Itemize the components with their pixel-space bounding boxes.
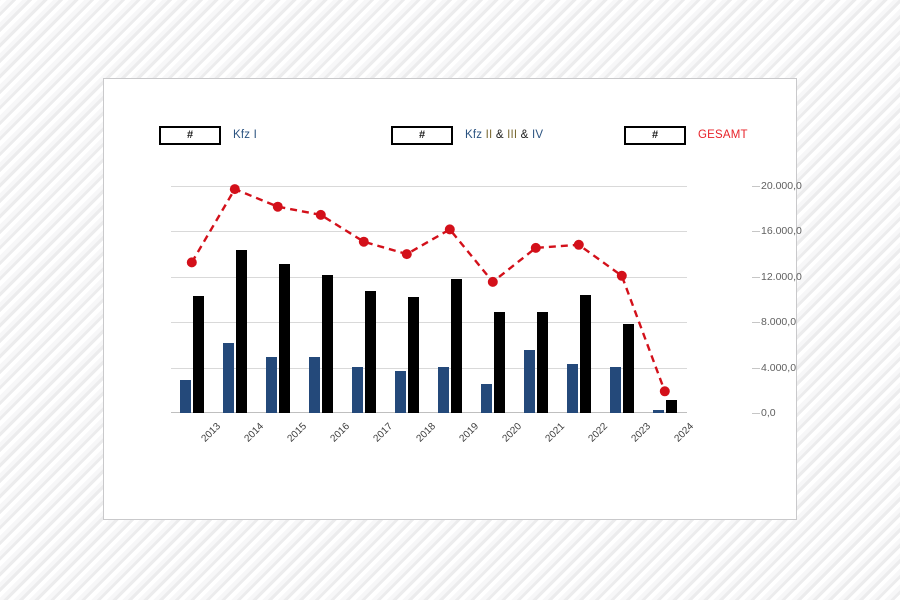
y-axis-label: 4.000,0 bbox=[761, 362, 796, 374]
legend-label-segment-2: & bbox=[492, 129, 507, 141]
x-axis-label: 2021 bbox=[544, 421, 568, 445]
gesamt-data-point[interactable]: 2013: 13270 bbox=[187, 257, 197, 267]
x-axis-label: 2024 bbox=[673, 421, 697, 445]
y-axis-label: 20.000,0 bbox=[761, 180, 802, 192]
x-axis-label: 2020 bbox=[501, 421, 525, 445]
y-axis-label: 8.000,0 bbox=[761, 316, 796, 328]
gesamt-data-point[interactable]: 2014: 19730 bbox=[230, 184, 240, 194]
legend-label-gesamt: GESAMT bbox=[698, 129, 748, 141]
y-axis-label: 12.000,0 bbox=[761, 271, 802, 283]
legend-swatch-kfz-i[interactable]: # bbox=[159, 126, 221, 145]
gesamt-data-point[interactable]: 2017: 15090 bbox=[359, 237, 369, 247]
gesamt-data-point[interactable]: 2023: 12090 bbox=[617, 271, 627, 281]
x-axis-label: 2013 bbox=[200, 421, 224, 445]
legend-label-kfz-i: Kfz I bbox=[233, 129, 257, 141]
x-axis-label: 2019 bbox=[458, 421, 482, 445]
legend-label-segment-0: Kfz bbox=[465, 129, 486, 141]
legend-item-kfz-i[interactable]: # Kfz I bbox=[159, 124, 257, 146]
y-axis-label: 16.000,0 bbox=[761, 225, 802, 237]
gesamt-line-series: 2013: 132702014: 197302015: 181802016: 1… bbox=[171, 186, 687, 413]
y-tick-mark bbox=[752, 186, 760, 187]
chart-legend: # Kfz I # Kfz II & III & IV # GESAMT bbox=[104, 79, 798, 139]
screenshot-root: # Kfz I # Kfz II & III & IV # GESAMT 0,0… bbox=[0, 0, 900, 600]
legend-label-kfz-ii-iii-iv: Kfz II & III & IV bbox=[465, 129, 543, 141]
x-axis-label: 2016 bbox=[329, 421, 353, 445]
gesamt-data-point[interactable]: 2016: 17450 bbox=[316, 210, 326, 220]
legend-label-segment-4: & bbox=[517, 129, 532, 141]
plot-area: 0,04.000,08.000,012.000,016.000,020.000,… bbox=[171, 186, 687, 413]
y-tick-mark bbox=[752, 368, 760, 369]
gesamt-data-point[interactable]: 2024: 1910 bbox=[660, 386, 670, 396]
gesamt-data-point[interactable]: 2018: 14000 bbox=[402, 249, 412, 259]
chart-panel: # Kfz I # Kfz II & III & IV # GESAMT 0,0… bbox=[103, 78, 797, 520]
gesamt-line-path bbox=[192, 189, 665, 391]
gesamt-data-point[interactable]: 2022: 14820 bbox=[574, 240, 584, 250]
x-axis-label: 2017 bbox=[372, 421, 396, 445]
legend-swatch-kfz-ii-iii-iv[interactable]: # bbox=[391, 126, 453, 145]
legend-label-segment-3: III bbox=[507, 129, 517, 141]
gesamt-data-point[interactable]: 2015: 18180 bbox=[273, 202, 283, 212]
gesamt-data-point[interactable]: 2020: 11550 bbox=[488, 277, 498, 287]
x-axis-label: 2023 bbox=[630, 421, 654, 445]
x-axis-label: 2018 bbox=[415, 421, 439, 445]
legend-item-kfz-ii-iii-iv[interactable]: # Kfz II & III & IV bbox=[391, 124, 543, 146]
y-tick-mark bbox=[752, 231, 760, 232]
legend-item-gesamt[interactable]: # GESAMT bbox=[624, 124, 748, 146]
x-axis-label: 2014 bbox=[243, 421, 267, 445]
y-axis-label: 0,0 bbox=[761, 407, 776, 419]
legend-swatch-gesamt[interactable]: # bbox=[624, 126, 686, 145]
y-tick-mark bbox=[752, 277, 760, 278]
gesamt-data-point[interactable]: 2019: 16180 bbox=[445, 224, 455, 234]
legend-label-segment-5: IV bbox=[532, 129, 543, 141]
y-tick-mark bbox=[752, 322, 760, 323]
gesamt-data-point[interactable]: 2021: 14550 bbox=[531, 243, 541, 253]
x-axis-label: 2022 bbox=[587, 421, 611, 445]
x-axis-label: 2015 bbox=[286, 421, 310, 445]
y-tick-mark bbox=[752, 413, 760, 414]
